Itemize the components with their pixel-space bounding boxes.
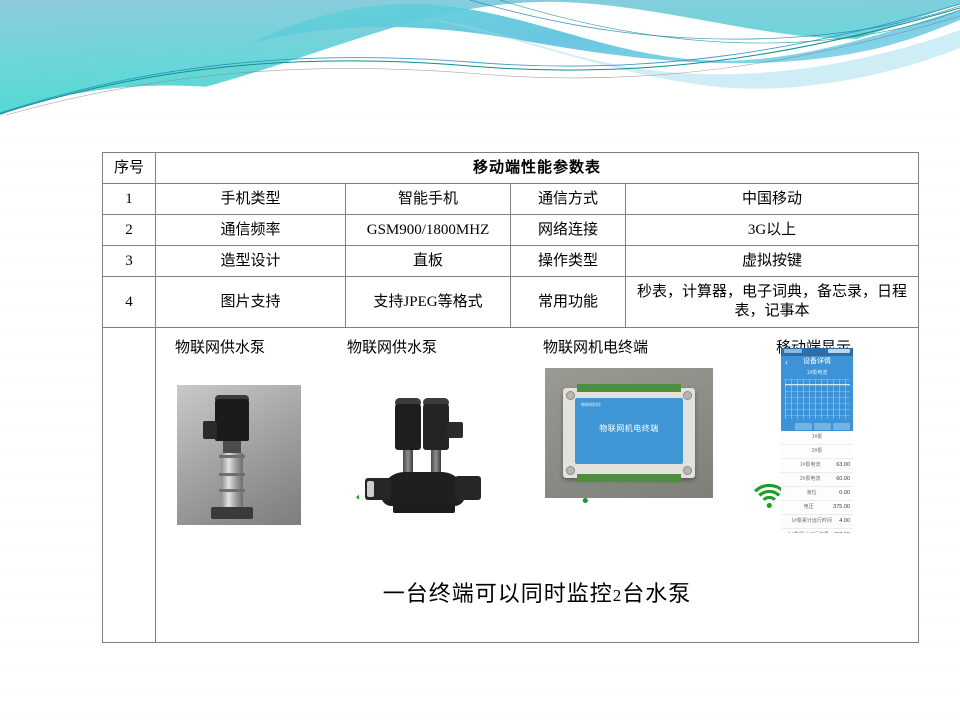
param-value: 4.00	[839, 518, 850, 525]
list-item[interactable]: 2#泵	[781, 445, 853, 459]
row-value-1: 智能手机	[346, 184, 511, 215]
pump-discharge-flange	[455, 476, 481, 500]
row-key-1: 通信频率	[156, 215, 346, 246]
phone-chart-range-buttons[interactable]	[795, 423, 850, 430]
table-header-row: 序号 移动端性能参数表	[103, 153, 919, 184]
table-row: 1 手机类型 智能手机 通信方式 中国移动	[103, 184, 919, 215]
phone-status-bar	[781, 348, 853, 356]
pump-motor-left	[395, 404, 421, 450]
table-title: 移动端性能参数表	[156, 153, 919, 184]
terminal-connector-bottom	[577, 474, 681, 482]
terminal-faceplate: 物联网科技 物联网机电终端	[575, 398, 683, 464]
diagram-bottom-caption: 一台终端可以同时监控2台水泵	[159, 580, 915, 608]
param-label: 1#泵	[784, 434, 850, 440]
param-label: 1#泵累计运行电量	[784, 532, 833, 533]
row-key-1: 手机类型	[156, 184, 346, 215]
row-value-1: 直板	[346, 246, 511, 277]
caption-pump-count: 2	[613, 586, 623, 605]
photo-mobile-app-screen: ‹ 设备详情 1#泵电流	[781, 348, 853, 533]
param-value: 0.00	[839, 490, 850, 497]
row-value-2: 3G以上	[626, 215, 919, 246]
row-value-2: 中国移动	[626, 184, 919, 215]
row-value-1: 支持JPEG等格式	[346, 277, 511, 328]
media-row-index-cell	[103, 328, 156, 643]
pump-ring	[219, 489, 245, 492]
param-label: 1#泵电流	[784, 462, 836, 468]
row-key-2: 通信方式	[511, 184, 626, 215]
terminal-brand: 物联网科技	[581, 402, 601, 407]
pump-ring	[219, 473, 245, 476]
param-label: 2#泵电流	[784, 476, 836, 482]
table-row: 2 通信频率 GSM900/1800MHZ 网络连接 3G以上	[103, 215, 919, 246]
terminal-enclosure: 物联网科技 物联网机电终端	[563, 388, 695, 478]
slide-header-decoration	[0, 0, 960, 115]
caption-pump-2: 物联网供水泵	[347, 339, 437, 358]
system-diagram-cell: 物联网供水泵 物联网供水泵 物联网机电终端 移动端显示	[156, 328, 919, 643]
caption-prefix: 一台终端可以同时监控	[383, 581, 613, 606]
photo-vertical-pump	[177, 385, 301, 525]
phone-parameter-list: 1#泵 2#泵 1#泵电流 63.00	[781, 431, 853, 533]
pump-junction-box	[447, 422, 463, 438]
param-label: 1#泵累计运行时间	[784, 518, 839, 524]
pump-motor	[215, 399, 249, 441]
phone-chart-series-line	[785, 384, 850, 385]
table-row: 3 造型设计 直板 操作类型 虚拟按键	[103, 246, 919, 277]
photo-iot-terminal: 物联网科技 物联网机电终端	[545, 368, 713, 498]
pump-foot	[393, 504, 455, 513]
row-index: 3	[103, 246, 156, 277]
row-key-2: 网络连接	[511, 215, 626, 246]
caption-terminal: 物联网机电终端	[543, 339, 648, 358]
phone-nav-title: 设备详情	[781, 358, 853, 367]
phone-nav-bar: ‹ 设备详情	[781, 356, 853, 369]
list-item[interactable]: 液位 0.00	[781, 487, 853, 501]
param-value: 63.00	[836, 462, 850, 469]
slide-content-area: 序号 移动端性能参数表 1 手机类型 智能手机 通信方式 中国移动 2 通信频率…	[0, 115, 960, 720]
list-item[interactable]: 1#泵累计运行时间 4.00	[781, 515, 853, 529]
row-key-1: 图片支持	[156, 277, 346, 328]
wave-ribbon-icon	[0, 0, 960, 115]
list-item[interactable]: 2#泵电流 60.00	[781, 473, 853, 487]
row-index: 4	[103, 277, 156, 328]
param-label: 2#泵	[784, 448, 850, 454]
phone-chart-grid	[785, 379, 850, 419]
param-label: 液位	[784, 490, 839, 496]
param-value: 60.00	[836, 476, 850, 483]
caption-pump-1: 物联网供水泵	[175, 339, 265, 358]
row-value-1: GSM900/1800MHZ	[346, 215, 511, 246]
pump-base-flange	[211, 507, 253, 519]
terminal-model-label: 物联网机电终端	[575, 424, 683, 434]
pump-stage-body	[221, 453, 243, 509]
param-value: 497.00	[833, 532, 850, 533]
pump-suction-flange	[365, 478, 391, 500]
list-item[interactable]: 1#泵电流 63.00	[781, 459, 853, 473]
row-value-2: 虚拟按键	[626, 246, 919, 277]
terminal-connector-top	[577, 384, 681, 392]
param-label: 电压	[784, 504, 833, 510]
header-index-label: 序号	[103, 153, 156, 184]
list-item[interactable]: 1#泵累计运行电量 497.00	[781, 529, 853, 533]
phone-chart-panel: 1#泵电流	[781, 369, 853, 431]
row-index: 2	[103, 215, 156, 246]
list-item[interactable]: 电压 375.00	[781, 501, 853, 515]
table-media-row: 物联网供水泵 物联网供水泵 物联网机电终端 移动端显示	[103, 328, 919, 643]
table-row: 4 图片支持 支持JPEG等格式 常用功能 秒表，计算器，电子词典，备忘录，日程…	[103, 277, 919, 328]
row-index: 1	[103, 184, 156, 215]
row-key-2: 常用功能	[511, 277, 626, 328]
caption-suffix: 台水泵	[622, 581, 691, 606]
row-key-2: 操作类型	[511, 246, 626, 277]
row-key-1: 造型设计	[156, 246, 346, 277]
pump-neck	[223, 441, 241, 453]
list-item[interactable]: 1#泵	[781, 431, 853, 445]
pump-ring	[219, 455, 245, 458]
pump-motor-right	[423, 404, 449, 450]
pump-volute	[381, 472, 465, 506]
system-diagram: 物联网供水泵 物联网供水泵 物联网机电终端 移动端显示	[159, 330, 915, 640]
row-value-2: 秒表，计算器，电子词典，备忘录，日程表，记事本	[626, 277, 919, 328]
phone-chart-subtitle: 1#泵电流	[781, 370, 853, 376]
mobile-spec-table: 序号 移动端性能参数表 1 手机类型 智能手机 通信方式 中国移动 2 通信频率…	[102, 152, 919, 643]
photo-inline-pump	[359, 380, 509, 525]
param-value: 375.00	[833, 504, 850, 511]
pump-terminal-box	[203, 421, 217, 439]
